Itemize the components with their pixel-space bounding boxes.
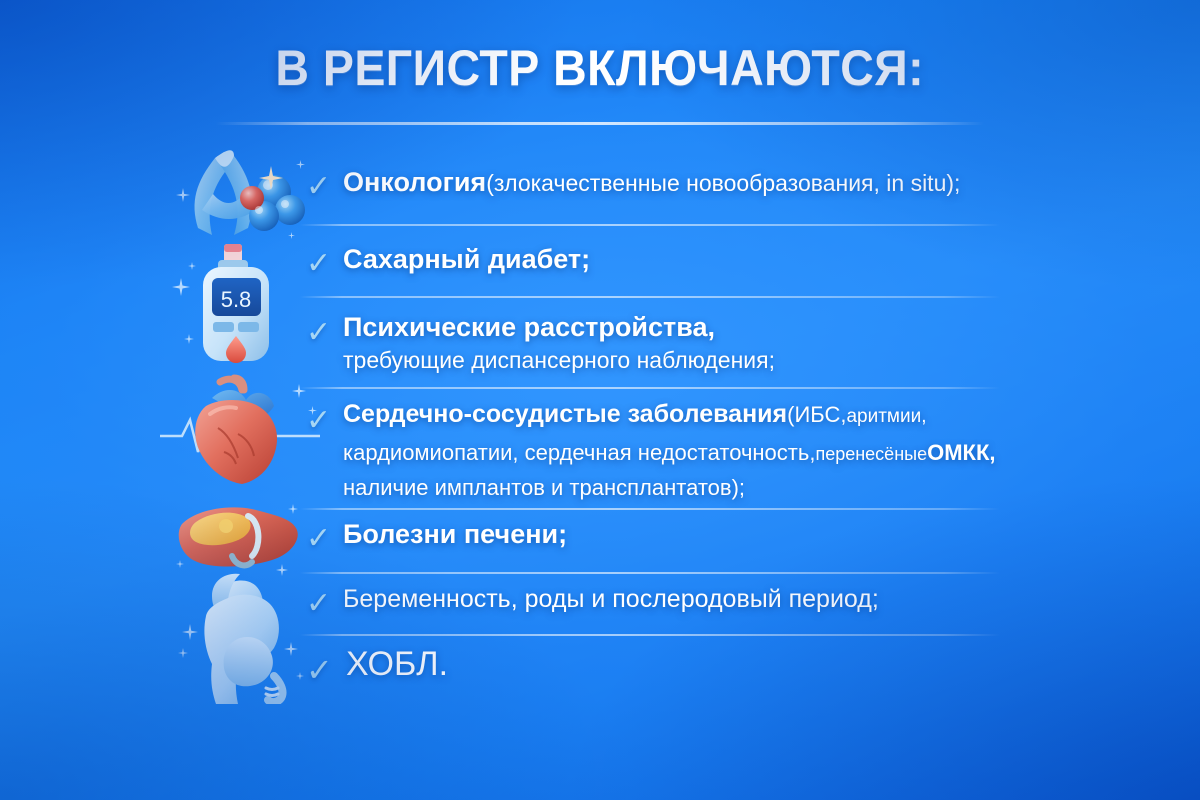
list-item-sublabel-text: требующие диспансерного наблюдения; xyxy=(343,347,775,374)
page-title-wrap: В РЕГИСТР ВКЛЮЧАЮТСЯ: xyxy=(0,42,1200,95)
glucometer-icon: 5.8 xyxy=(178,242,298,364)
check-icon: ✓ xyxy=(306,654,333,686)
cancer-ribbon-cells-icon xyxy=(168,136,308,246)
row-divider xyxy=(300,387,1000,389)
list-item-label-strong: Психические расстройства, xyxy=(343,312,715,343)
list-item-sublabel-text: наличие имплантов и трансплантатов); xyxy=(343,475,745,501)
check-icon: ✓ xyxy=(306,524,331,554)
check-icon: ✓ xyxy=(306,589,331,619)
row-divider xyxy=(300,572,1000,574)
list-item-sublabel-small: перенесёные xyxy=(815,444,927,465)
check-icon: ✓ xyxy=(306,172,331,202)
check-icon: ✓ xyxy=(306,406,331,436)
list-item-sublabel-strong: ОМКК, xyxy=(927,440,995,466)
list-item-label-text: ХОБЛ. xyxy=(346,645,448,684)
row-divider xyxy=(300,508,1000,510)
list-item-label-strong: Сахарный диабет; xyxy=(343,244,590,275)
list-item-label: Беременность, роды и послеродовый период… xyxy=(343,585,879,614)
list-item-label: Сердечно-сосудистые заболевания (ИБС, ар… xyxy=(343,400,927,429)
list-item-label-strong: Сердечно-сосудистые заболевания xyxy=(343,400,787,429)
list-item-label-note-small: аритмии, xyxy=(846,406,926,428)
pregnant-woman-icon xyxy=(178,572,306,704)
list-item-label: Психические расстройства, xyxy=(343,312,715,343)
list-item-label-strong: Болезни печени; xyxy=(343,519,567,550)
row-divider xyxy=(300,634,1000,636)
anatomical-heart-ecg-icon xyxy=(160,370,320,488)
page-title: В РЕГИСТР ВКЛЮЧАЮТСЯ: xyxy=(276,42,925,95)
slide-canvas: В РЕГИСТР ВКЛЮЧАЮТСЯ: xyxy=(0,0,1200,800)
list-item-label: Сахарный диабет; xyxy=(343,244,590,275)
title-underline-divider xyxy=(215,122,985,125)
list-item-sublabel: кардиомиопатии, сердечная недостаточност… xyxy=(343,440,996,466)
list-item-sublabel: наличие имплантов и трансплантатов); xyxy=(343,475,745,501)
row-divider xyxy=(300,296,1000,298)
check-icon: ✓ xyxy=(306,318,331,348)
list-item-label-text: Беременность, роды и послеродовый период… xyxy=(343,585,879,614)
check-icon: ✓ xyxy=(306,249,331,279)
svg-text:5.8: 5.8 xyxy=(221,287,252,312)
liver-icon xyxy=(172,498,300,580)
list-item-sublabel-text: кардиомиопатии, сердечная недостаточност… xyxy=(343,440,815,466)
row-divider xyxy=(300,224,1000,226)
list-item-sublabel: требующие диспансерного наблюдения; xyxy=(343,347,775,374)
list-item-label-strong: Онкология xyxy=(343,167,486,198)
list-item-label: ХОБЛ. xyxy=(346,645,448,684)
list-item-label-note: (злокачественные новообразования, in sit… xyxy=(486,170,960,197)
list-item-label: Онкология (злокачественные новообразован… xyxy=(343,167,960,198)
list-item-label: Болезни печени; xyxy=(343,519,567,550)
list-item-label-note: (ИБС, xyxy=(787,402,846,428)
